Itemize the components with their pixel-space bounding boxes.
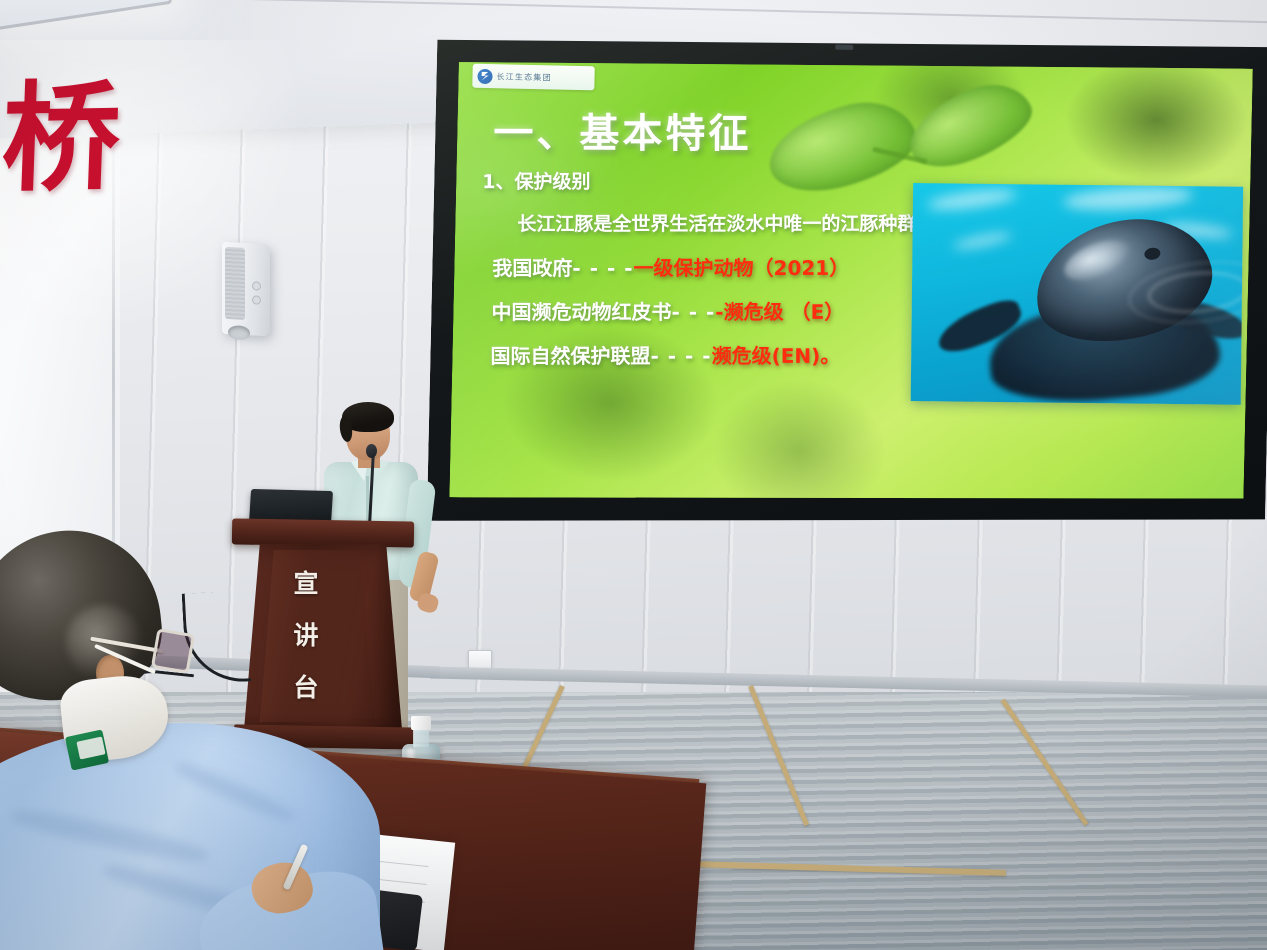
speaker-knob-tone[interactable] bbox=[252, 295, 261, 304]
bottle-neck bbox=[413, 729, 429, 747]
water-highlight-2 bbox=[1062, 184, 1193, 214]
speaker-knob-volume[interactable] bbox=[252, 281, 261, 290]
slide-line-2-text: 长江江豚是全世界生活在淡水中唯一的江豚种群。 bbox=[517, 213, 935, 235]
slide-line-5-dash: - - - - bbox=[650, 344, 711, 368]
slide-line-2: 长江江豚是全世界生活在淡水中唯一的江豚种群。 bbox=[517, 209, 935, 236]
water-highlight-1 bbox=[926, 186, 1017, 213]
slide-line-3-label: 我国政府 bbox=[492, 256, 572, 280]
slide-line-5-label: 国际自然保护联盟 bbox=[490, 344, 650, 368]
ceiling-panel-light bbox=[0, 0, 175, 30]
wall-outlet-left[interactable] bbox=[468, 650, 492, 669]
porpoise-photo bbox=[911, 183, 1243, 405]
slide-line-1: 1、保护级别 bbox=[482, 167, 590, 194]
water-highlight-4 bbox=[952, 230, 1013, 252]
slide-line-3: 我国政府- - - -一级保护动物（2021） bbox=[492, 252, 849, 281]
slide-line-5-highlight: 濒危级(EN)。 bbox=[712, 344, 841, 368]
slide-line-4: 中国濒危动物红皮书- - --濒危级 （E） bbox=[491, 296, 844, 325]
slide-line-1-text: 1、保护级别 bbox=[482, 171, 590, 193]
bottle-cap[interactable] bbox=[411, 716, 431, 730]
speaker-grille bbox=[225, 247, 245, 320]
microphone-head-icon[interactable] bbox=[366, 444, 377, 458]
glasses-lens bbox=[151, 628, 195, 674]
slide-line-3-highlight: 一级保护动物（2021） bbox=[634, 256, 850, 280]
wall-speaker bbox=[222, 242, 270, 337]
slide-line-4-label: 中国濒危动物红皮书 bbox=[491, 300, 671, 324]
slide-line-4-highlight: -濒危级 （E） bbox=[715, 300, 844, 324]
slide-line-3-dash: - - - - bbox=[572, 256, 633, 280]
display-sensor bbox=[835, 45, 853, 50]
wall-calligraphy-character: 桥 bbox=[0, 77, 114, 214]
slide-line-4-dash: - - - bbox=[671, 300, 715, 324]
ceiling-seam bbox=[210, 0, 1267, 24]
led-display[interactable]: 长江生态集团 一、基本特征 1、保护级别 长江江豚是全世界生活在淡水中唯一的江豚… bbox=[427, 29, 1267, 547]
slide-canvas: 长江生态集团 一、基本特征 1、保护级别 长江江豚是全世界生活在淡水中唯一的江豚… bbox=[449, 51, 1253, 514]
conference-room-photo: 桥 长江生态集团 一、基本特征 bbox=[0, 0, 1267, 950]
audience-person bbox=[0, 525, 390, 950]
slide-line-5: 国际自然保护联盟- - - -濒危级(EN)。 bbox=[490, 340, 840, 369]
